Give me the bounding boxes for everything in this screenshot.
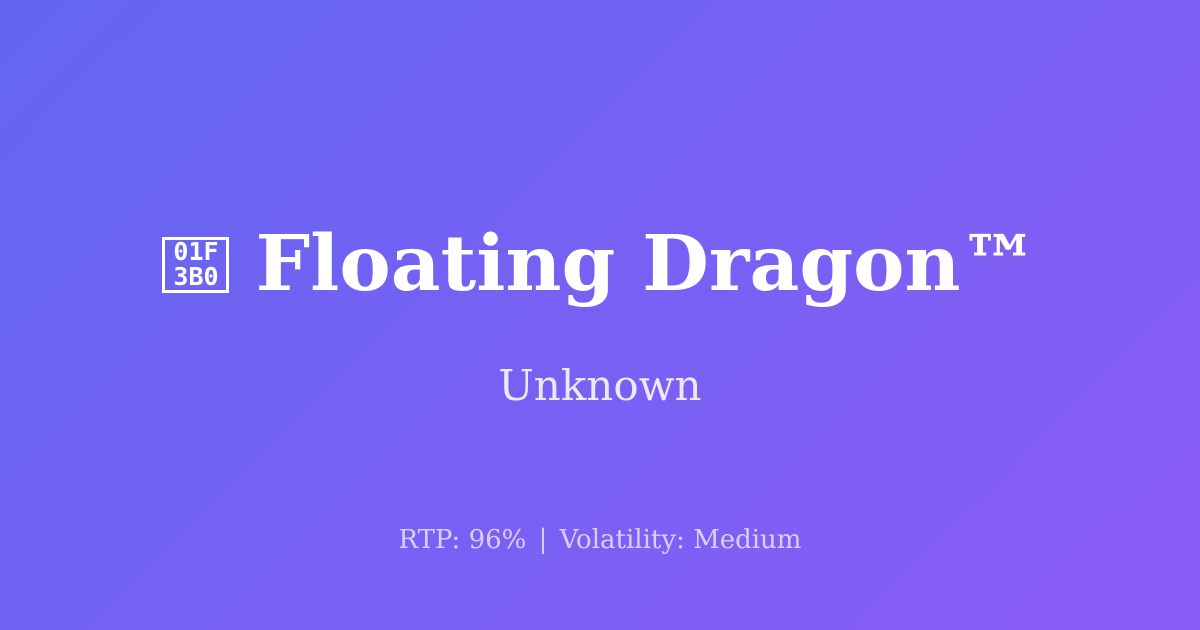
game-name: Floating Dragon xyxy=(255,219,960,309)
game-title-row: 01F 3B0 Floating Dragon™ xyxy=(0,226,1200,303)
game-provider: Unknown xyxy=(0,362,1200,410)
volatility-label: Volatility: xyxy=(560,525,685,555)
trademark-symbol: ™ xyxy=(961,219,1038,309)
og-share-card: 01F 3B0 Floating Dragon™ Unknown RTP: 96… xyxy=(0,0,1200,630)
page-title: Floating Dragon™ xyxy=(255,226,1037,303)
tofu-codepoint-top: 01F xyxy=(173,239,218,264)
volatility-value: Medium xyxy=(693,525,801,555)
game-stats-line: RTP: 96% | Volatility: Medium xyxy=(0,525,1200,556)
rtp-label: RTP: xyxy=(399,525,461,555)
slot-machine-emoji-icon: 01F 3B0 xyxy=(162,237,229,293)
tofu-codepoint-bottom: 3B0 xyxy=(173,264,218,289)
stats-separator: | xyxy=(535,525,552,555)
rtp-value: 96% xyxy=(469,525,527,555)
